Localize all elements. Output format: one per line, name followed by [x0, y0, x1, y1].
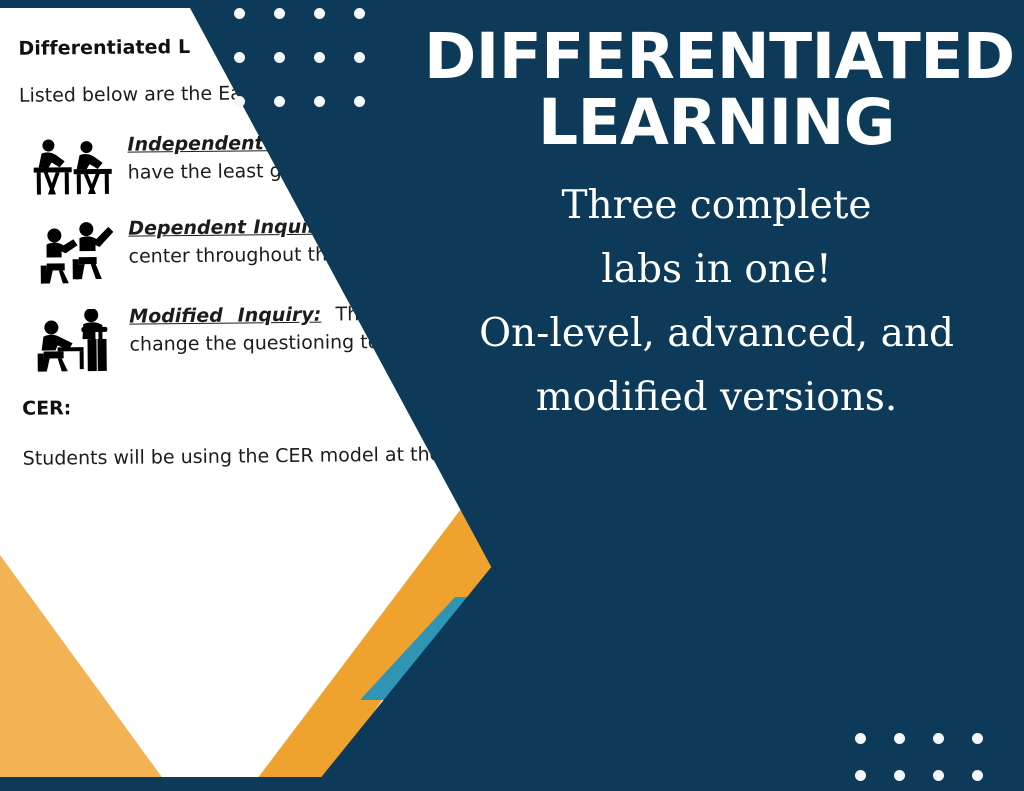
dot — [314, 52, 325, 63]
dot — [894, 733, 905, 744]
dot — [894, 770, 905, 781]
dot — [274, 96, 285, 107]
dot — [314, 8, 325, 19]
students-raising-hands-icon — [20, 215, 129, 286]
dot — [855, 770, 866, 781]
dot-grid-bottom — [855, 733, 983, 781]
poster-canvas: Differentiated L Listed below are the Ea… — [0, 0, 1024, 791]
dot-grid-top — [234, 8, 365, 107]
dot — [274, 52, 285, 63]
subtitle-line-4: modified versions. — [424, 366, 1009, 430]
subtitle-line-1: Three complete — [424, 174, 1009, 238]
cer-body: Students will be using the CER model at … — [23, 434, 923, 473]
poster-title: DIFFERENTIATED LEARNING — [424, 24, 1009, 156]
dot — [855, 733, 866, 744]
dot — [933, 770, 944, 781]
dot — [314, 96, 325, 107]
students-at-desks-icon — [19, 131, 128, 198]
inquiry-lead: Modified Inquiry: — [129, 304, 321, 328]
dot — [234, 52, 245, 63]
dot — [972, 770, 983, 781]
top-navy-strip — [0, 0, 1024, 8]
dot — [354, 8, 365, 19]
dot — [234, 96, 245, 107]
dot — [354, 52, 365, 63]
poster-subtitle: Three complete labs in one! On-level, ad… — [424, 174, 1009, 430]
dot — [234, 8, 245, 19]
dot — [274, 8, 285, 19]
poster-title-line1: DIFFERENTIATED — [424, 24, 1009, 90]
teacher-and-student-icon — [21, 303, 130, 374]
poster-title-line2: LEARNING — [424, 90, 1009, 156]
inquiry-lead: Independent In — [127, 132, 291, 156]
subtitle-line-2: labs in one! — [424, 238, 1009, 302]
dot — [972, 733, 983, 744]
headline-block: DIFFERENTIATED LEARNING Three complete l… — [424, 24, 1009, 430]
dot — [933, 733, 944, 744]
dot — [354, 96, 365, 107]
subtitle-line-3: On-level, advanced, and — [424, 302, 1009, 366]
inquiry-lead: Dependent Inquiry: — [128, 215, 337, 239]
